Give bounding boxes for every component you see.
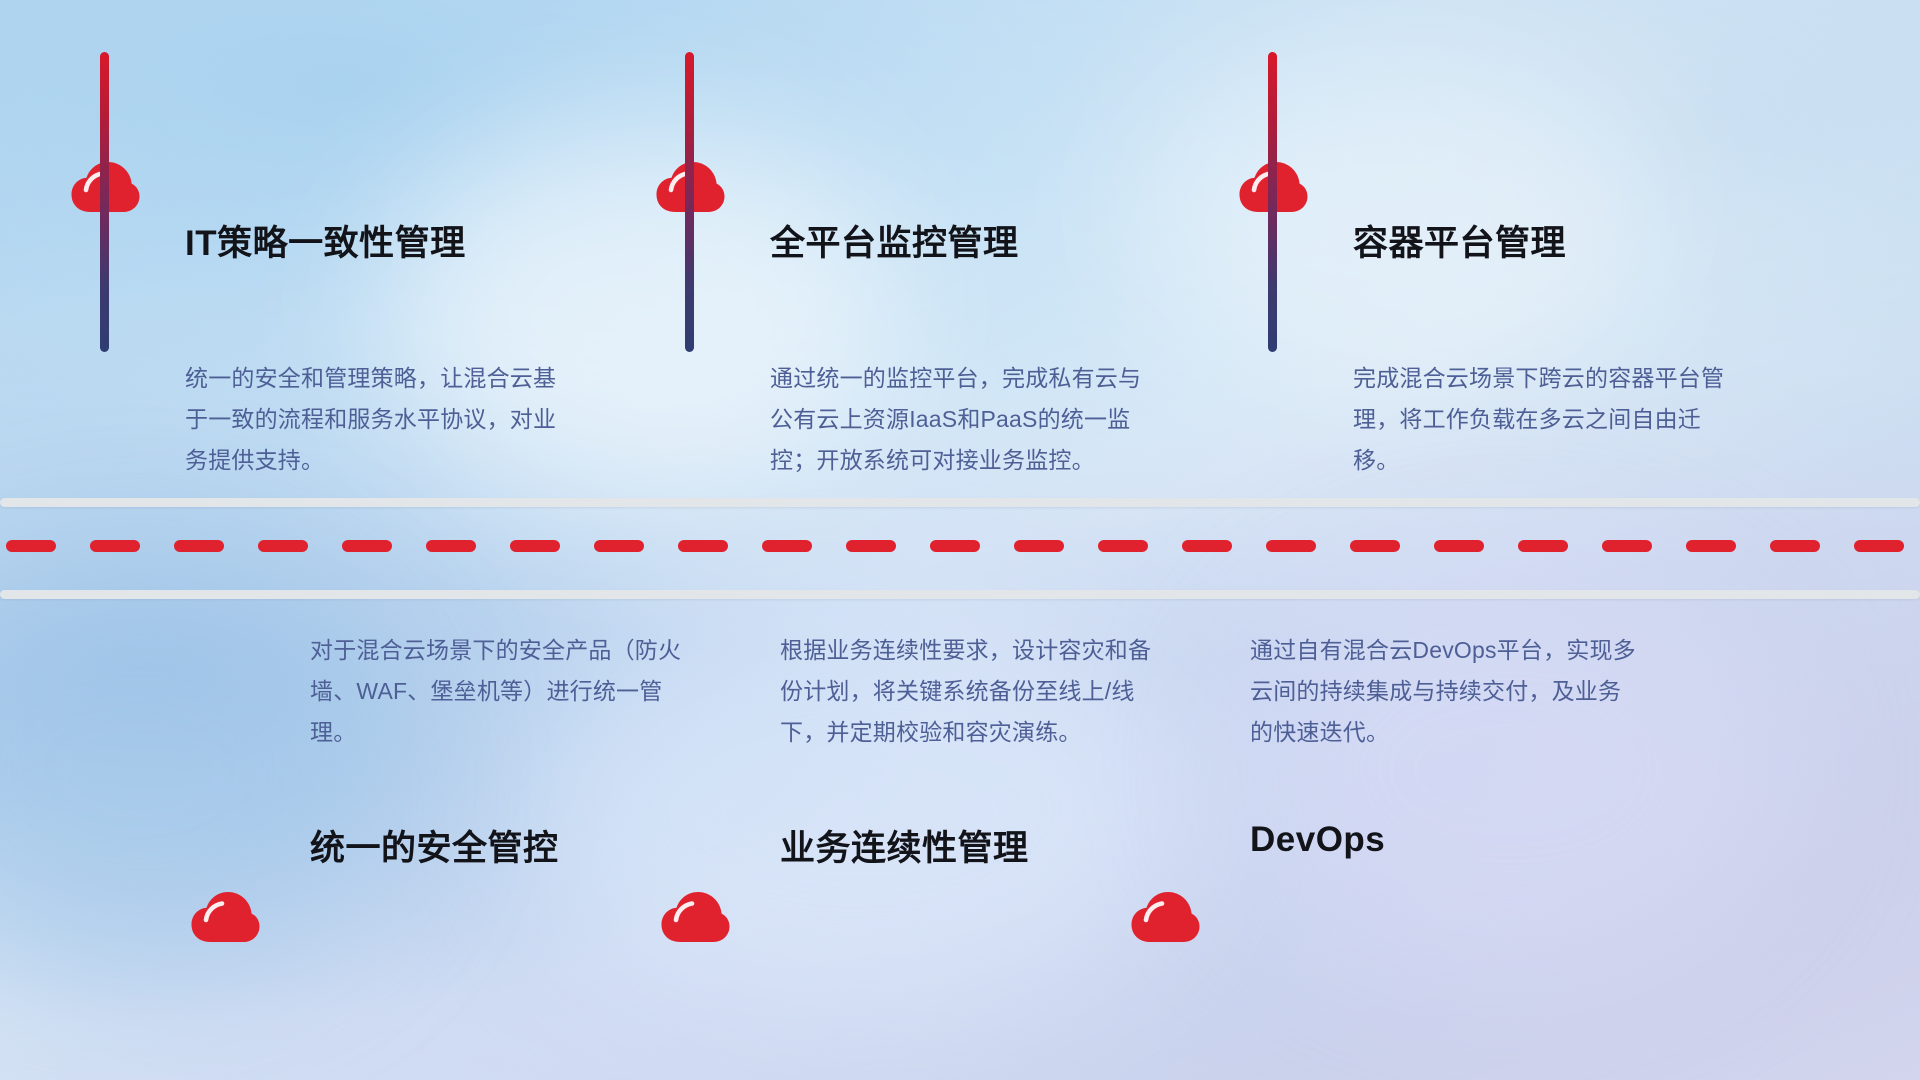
dash-segment (1770, 540, 1820, 552)
dash-segment (510, 540, 560, 552)
dash-segment (678, 540, 728, 552)
pin-marker (190, 890, 260, 946)
dash-segment (930, 540, 980, 552)
pin-marker (1130, 890, 1200, 946)
dashed-rule (0, 540, 1920, 552)
column-body: 统一的安全和管理策略，让混合云基于一致的流程和服务水平协议，对业务提供支持。 (185, 358, 575, 481)
column-body: 通过自有混合云DevOps平台，实现多云间的持续集成与持续交付，及业务的快速迭代… (1250, 630, 1640, 753)
column-body: 根据业务连续性要求，设计容灾和备份计划，将关键系统备份至线上/线下，并定期校验和… (780, 630, 1170, 753)
cloud-icon (1130, 890, 1200, 946)
dash-segment (1518, 540, 1568, 552)
dash-segment (1854, 540, 1904, 552)
dash-segment (174, 540, 224, 552)
dash-segment (1014, 540, 1064, 552)
column-title: 业务连续性管理 (780, 820, 1029, 871)
dash-segment (1182, 540, 1232, 552)
pin-stem (100, 52, 109, 352)
infographic-canvas: IT策略一致性管理 统一的安全和管理策略，让混合云基于一致的流程和服务水平协议，… (0, 0, 1920, 1080)
solid-rule-bottom (0, 590, 1920, 599)
pin-stem (1268, 52, 1277, 352)
divider-band (0, 490, 1920, 600)
column-title: DevOps (1250, 820, 1385, 860)
dash-segment (1602, 540, 1652, 552)
solid-rule-top (0, 498, 1920, 507)
column-body: 完成混合云场景下跨云的容器平台管理，将工作负载在多云之间自由迁移。 (1353, 358, 1743, 481)
cloud-icon (660, 890, 730, 946)
dash-segment (1686, 540, 1736, 552)
dash-segment (258, 540, 308, 552)
pin-stem (685, 52, 694, 352)
dash-segment (1350, 540, 1400, 552)
dash-segment (846, 540, 896, 552)
column-title: 全平台监控管理 (770, 215, 1019, 266)
dash-segment (594, 540, 644, 552)
column-body: 对于混合云场景下的安全产品（防火墙、WAF、堡垒机等）进行统一管理。 (310, 630, 700, 753)
dash-segment (1098, 540, 1148, 552)
cloud-icon (190, 890, 260, 946)
pin-marker (660, 890, 730, 946)
dash-segment (1266, 540, 1316, 552)
dash-segment (342, 540, 392, 552)
dash-segment (6, 540, 56, 552)
dash-segment (762, 540, 812, 552)
background-bloom (1130, 40, 1650, 380)
dash-segment (1434, 540, 1484, 552)
background-bloom (1230, 560, 1790, 980)
dash-segment (90, 540, 140, 552)
column-title: 容器平台管理 (1353, 215, 1566, 266)
column-title: 统一的安全管控 (310, 820, 559, 871)
column-body: 通过统一的监控平台，完成私有云与公有云上资源IaaS和PaaS的统一监控；开放系… (770, 358, 1160, 481)
dash-segment (426, 540, 476, 552)
column-title: IT策略一致性管理 (185, 215, 466, 266)
